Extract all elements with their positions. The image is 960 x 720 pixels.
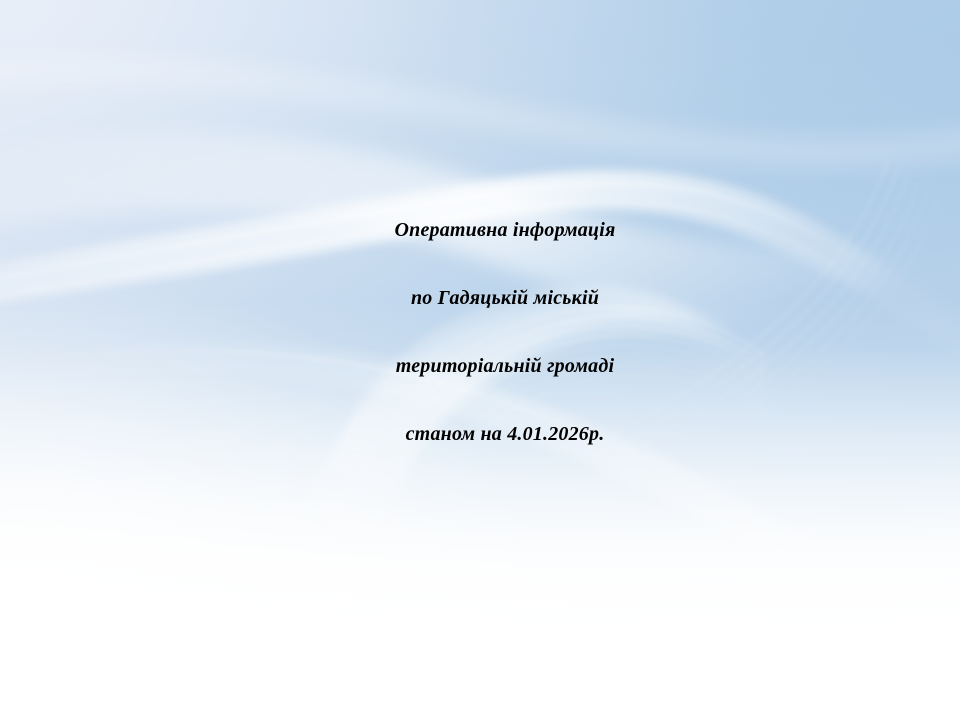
title-line-4: станом на 4.01.2026р. — [96, 400, 914, 468]
title-line-3: територіальній громаді — [96, 332, 914, 400]
title-line-2: по Гадяцькій міській — [96, 264, 914, 332]
slide-title: Оперативна інформація по Гадяцькій міськ… — [96, 196, 914, 468]
presentation-slide: Оперативна інформація по Гадяцькій міськ… — [0, 0, 960, 720]
title-line-1: Оперативна інформація — [96, 196, 914, 264]
